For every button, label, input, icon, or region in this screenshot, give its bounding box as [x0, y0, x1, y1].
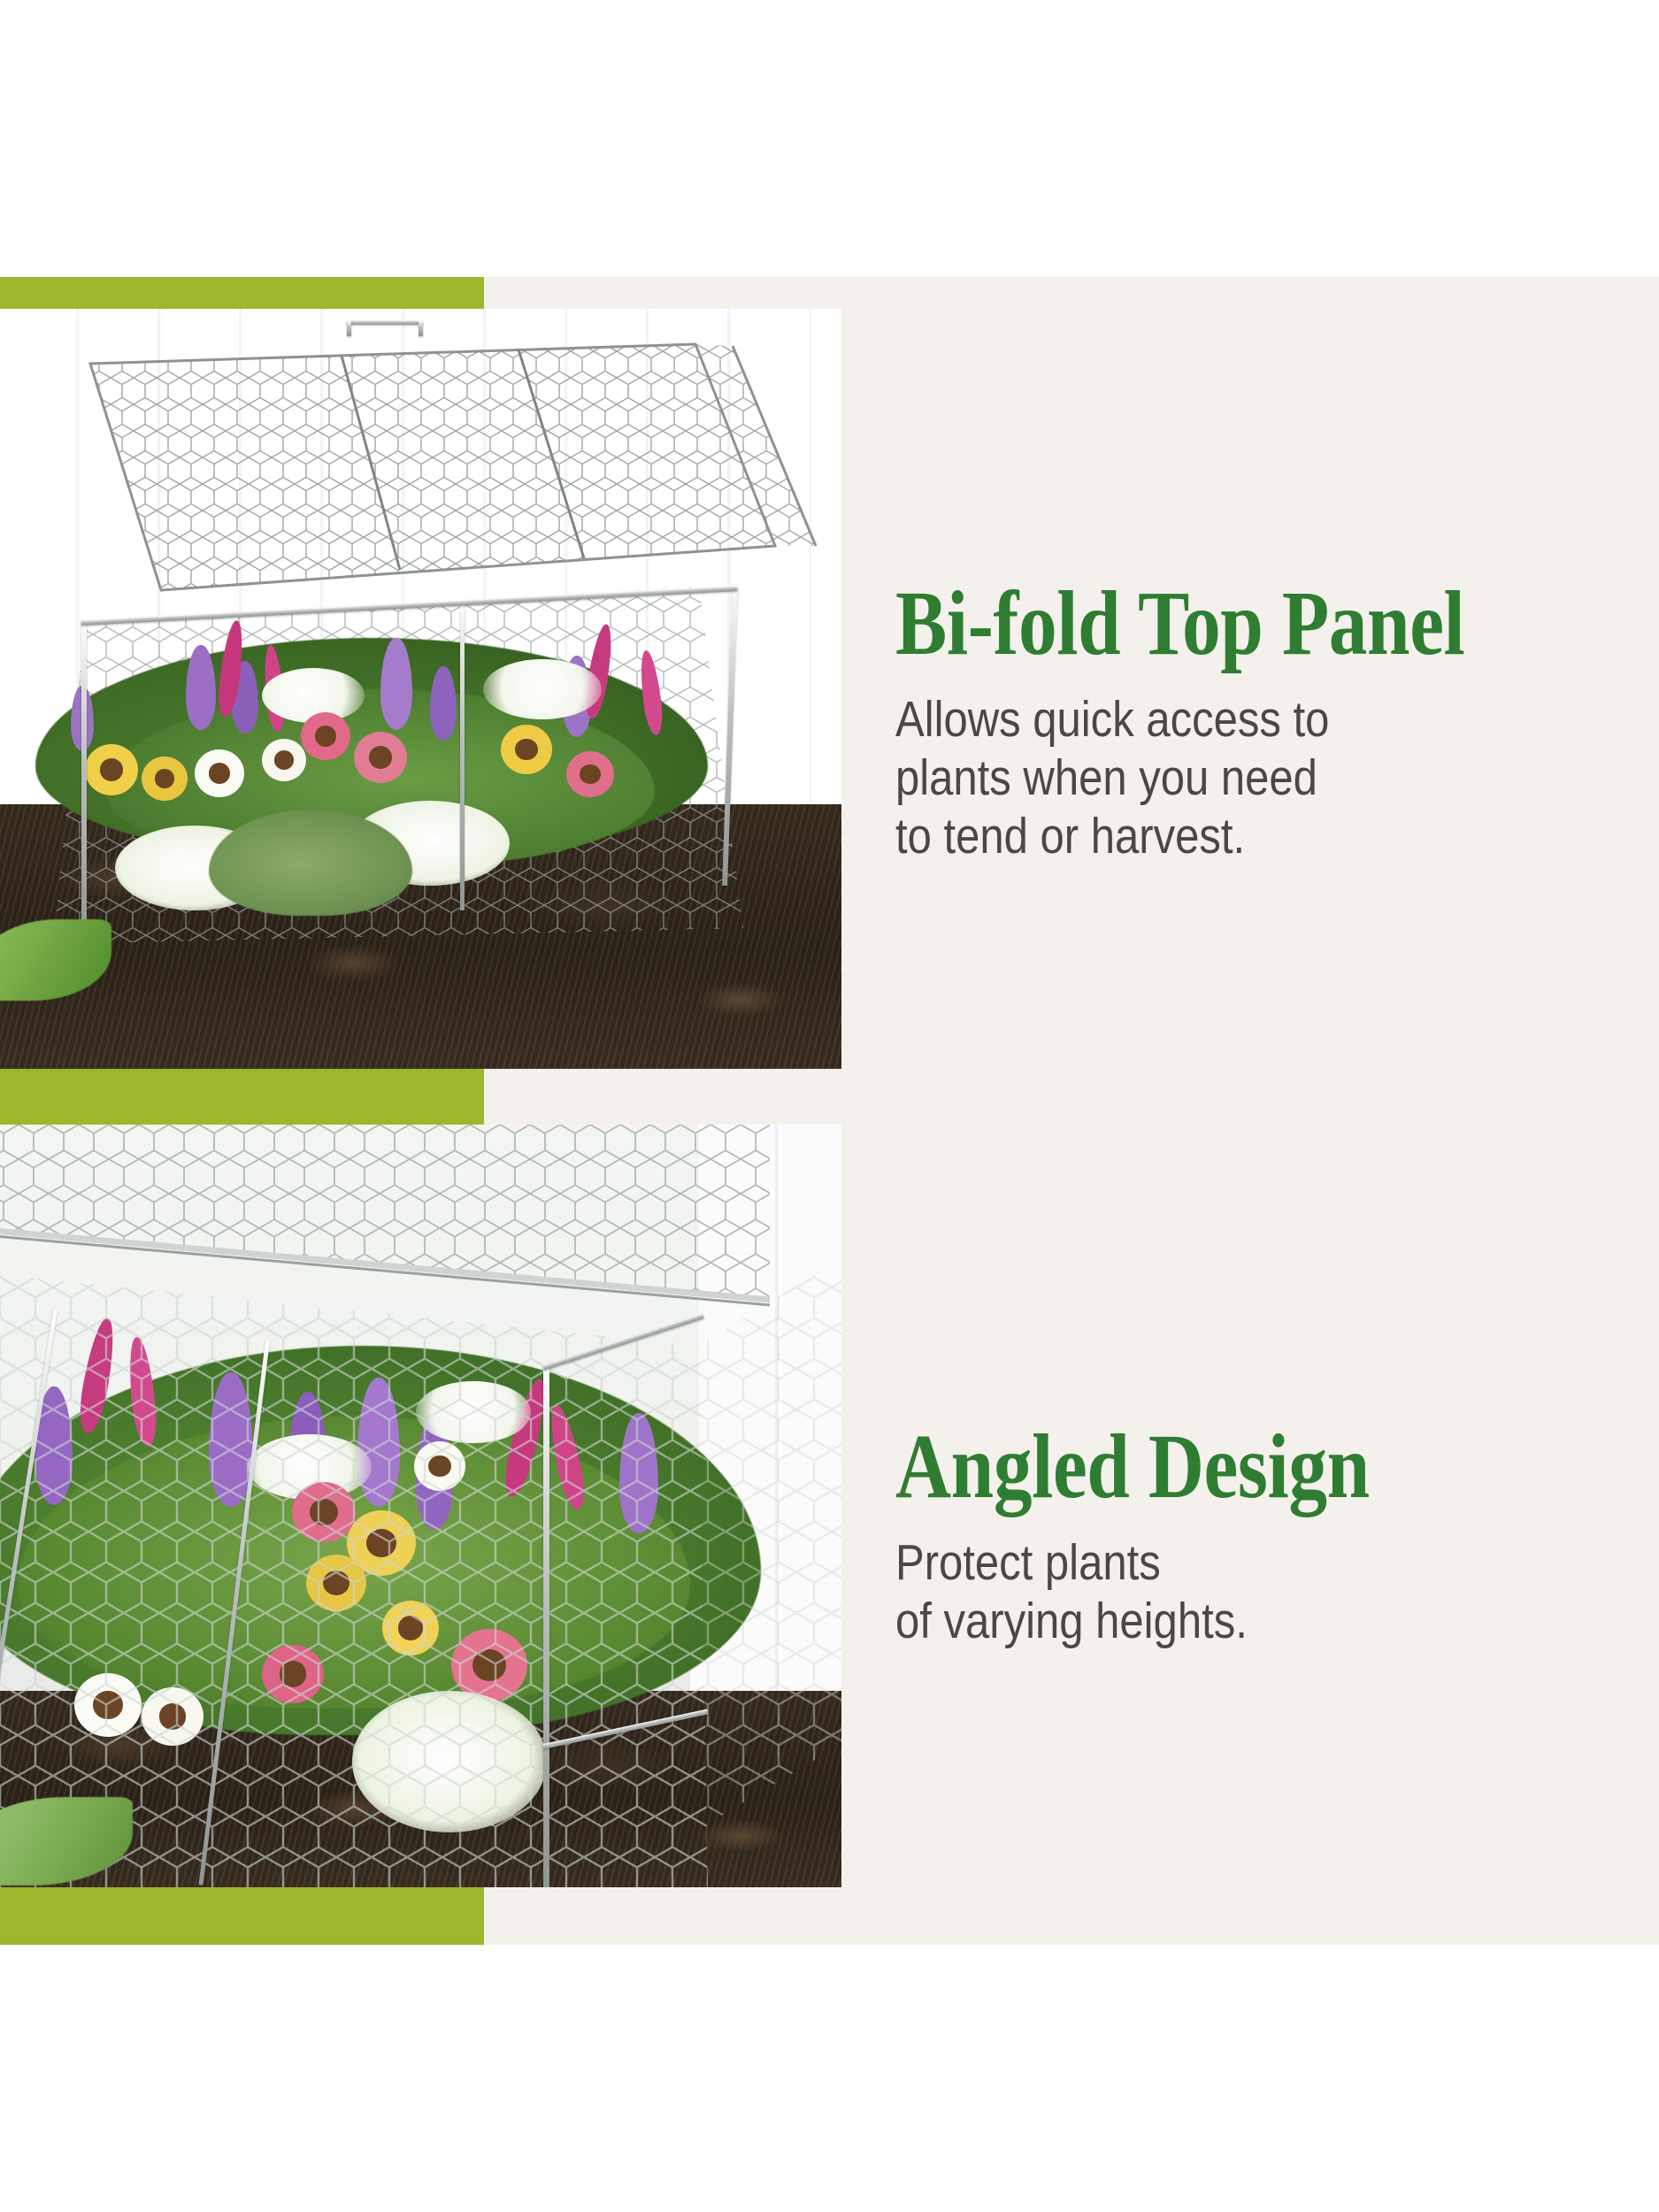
yellow-coneflower — [306, 1555, 366, 1611]
yellow-coneflower — [382, 1601, 439, 1655]
cloche-handle-leg-left — [347, 320, 351, 336]
yellow-coneflower — [85, 744, 138, 795]
pink-coneflower — [262, 1645, 324, 1703]
white-daisy — [262, 739, 306, 781]
product-feature-page: Bi-fold Top Panel Allows quick access to… — [0, 0, 1659, 2212]
white-daisy — [195, 749, 244, 797]
feature-photo-bifold-top-panel — [0, 309, 841, 1069]
accent-bar-middle — [0, 1069, 484, 1125]
white-daisy — [142, 1687, 204, 1746]
angled-roof-panel — [0, 1125, 770, 1523]
pink-coneflower — [301, 712, 350, 760]
feature-text-block-bifold-top-panel: Bi-fold Top Panel Allows quick access to… — [895, 577, 1603, 865]
yellow-coneflower — [142, 757, 188, 801]
feature-title: Bi-fold Top Panel — [895, 577, 1490, 671]
accent-bar-bottom — [0, 1887, 484, 1945]
cage-corner-post — [543, 1365, 549, 1887]
pink-coneflower — [354, 732, 407, 783]
feature-photo-angled-design — [0, 1125, 841, 1887]
feature-text-block-angled-design: Angled Design Protect plants of varying … — [895, 1420, 1603, 1650]
feature-description: Protect plants of varying heights. — [895, 1514, 1504, 1650]
cage-frame-rail-left — [81, 620, 87, 949]
accent-bar-top — [0, 277, 484, 309]
white-daisy — [74, 1673, 142, 1737]
pink-coneflower — [451, 1629, 527, 1701]
cage-frame-rail-mid — [460, 601, 465, 910]
white-alyssum-cluster — [483, 659, 602, 719]
pink-coneflower — [566, 751, 614, 797]
yellow-coneflower — [501, 725, 552, 774]
feature-title: Angled Design — [895, 1420, 1490, 1514]
cloche-handle-leg-right — [419, 320, 423, 336]
white-alyssum-mound — [352, 1691, 547, 1832]
feature-description: Allows quick access to plants when you n… — [895, 671, 1504, 865]
cloche-lift-handle — [347, 320, 423, 325]
